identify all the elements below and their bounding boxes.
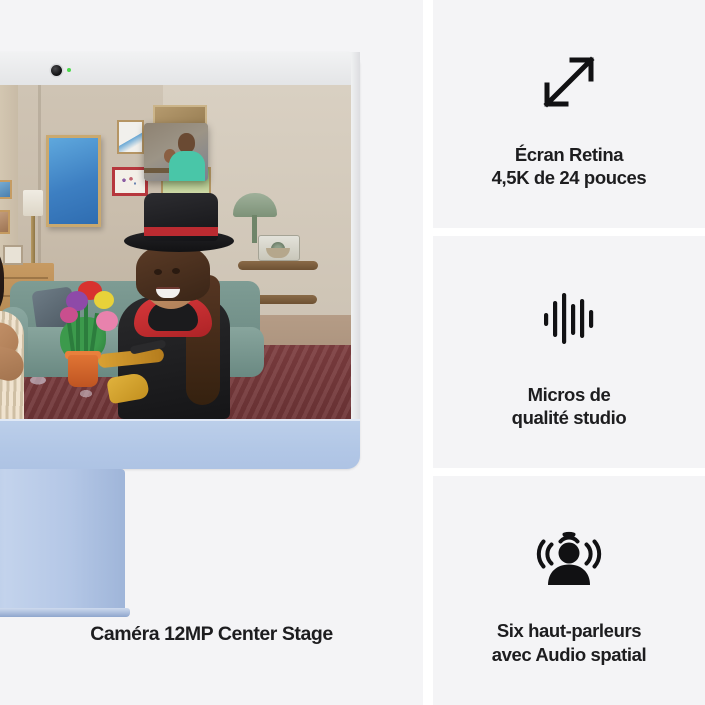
scene-photo-frame (3, 245, 23, 265)
feature-card-display[interactable]: Écran Retina 4,5K de 24 pouces (433, 0, 705, 228)
feature-line-1: Écran Retina (492, 143, 647, 166)
spatial-audio-person-icon (536, 515, 602, 601)
imac-camera-panel: Caméra 12MP Center Stage (0, 0, 423, 705)
scene-framed-art-small-1 (0, 180, 12, 199)
feature-card-speakers[interactable]: Six haut-parleurs avec Audio spatial (433, 476, 705, 705)
camera-caption: Caméra 12MP Center Stage (0, 622, 423, 646)
scene-framed-art-small-3 (117, 120, 144, 154)
imac-screen (0, 85, 351, 419)
scene-table-lamp-stem (252, 215, 257, 243)
feature-label-microphones: Micros de qualité studio (498, 383, 641, 430)
camera-active-led-icon (67, 68, 71, 72)
scene-girl-eye-right (172, 268, 180, 274)
scene-flower-pot (68, 355, 98, 387)
feature-label-display: Écran Retina 4,5K de 24 pouces (478, 143, 661, 190)
scene-top-hat-band (144, 227, 218, 236)
imac-stand-neck (0, 469, 125, 612)
feature-line-2: 4,5K de 24 pouces (492, 166, 647, 189)
feature-line-2: qualité studio (512, 406, 627, 429)
audio-waveform-icon (538, 275, 600, 361)
imac-chin-highlight (0, 419, 360, 421)
feature-line-2: avec Audio spatial (492, 643, 647, 666)
scene-framed-art-blue (46, 135, 101, 227)
scene-girl-eye-left (154, 269, 162, 275)
scene-floor-lamp-shade (23, 190, 43, 216)
feature-cards-column: Écran Retina 4,5K de 24 pouces Micros de… (433, 0, 705, 705)
imac-chin (0, 419, 360, 469)
feature-line-1: Micros de (512, 383, 627, 406)
scene-flower-magenta (60, 307, 78, 323)
scene-flower-stem (84, 301, 88, 357)
feature-card-microphones[interactable]: Micros de qualité studio (433, 236, 705, 468)
scene-flower-pink (96, 311, 118, 331)
camera-icon (51, 65, 62, 76)
imac-body (0, 52, 360, 469)
diagonal-arrows-expand-icon (538, 39, 600, 125)
pip-person-body (169, 151, 205, 181)
imac-device (0, 52, 360, 477)
imac-stand-foot (0, 608, 130, 617)
feature-line-1: Six haut-parleurs (492, 619, 647, 642)
pip-person-head (178, 133, 195, 153)
scene-side-table-top (238, 261, 318, 270)
scene-flower-yellow (94, 291, 114, 309)
feature-label-speakers: Six haut-parleurs avec Audio spatial (478, 619, 661, 666)
scene-framed-art-red (112, 167, 148, 196)
product-feature-grid: Caméra 12MP Center Stage Écran Retina 4,… (0, 0, 705, 705)
facetime-pip-tile (144, 123, 208, 181)
imac-right-bezel (351, 52, 360, 419)
scene-framed-art-small-2 (0, 210, 10, 234)
